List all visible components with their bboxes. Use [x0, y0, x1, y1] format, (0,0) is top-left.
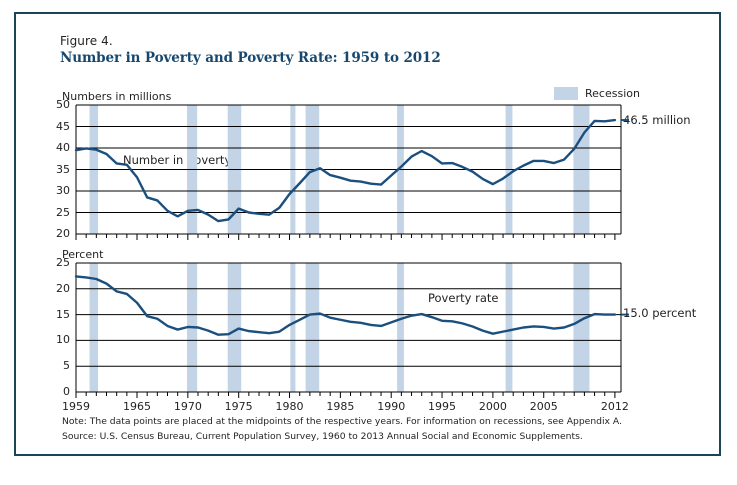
chart-note: Note: The data points are placed at the …	[62, 416, 622, 427]
chart-top-ytick: 30	[44, 184, 70, 197]
chart-bottom-ytick: 0	[44, 385, 70, 398]
chart-bottom-ytick: 5	[44, 359, 70, 372]
chart-xtick: 1970	[168, 400, 208, 413]
chart-xtick: 1990	[371, 400, 411, 413]
chart-xtick: 1959	[56, 400, 96, 413]
chart-xtick: 1995	[422, 400, 462, 413]
chart-bottom-ytick: 10	[44, 333, 70, 346]
chart-bottom-series-label: Poverty rate	[428, 291, 499, 305]
chart-source: Source: U.S. Census Bureau, Current Popu…	[62, 431, 583, 442]
chart-top-plot	[16, 14, 737, 485]
chart-top-ytick: 45	[44, 120, 70, 133]
chart-xtick: 1975	[219, 400, 259, 413]
chart-top-ytick: 35	[44, 163, 70, 176]
chart-xtick: 1985	[320, 400, 360, 413]
chart-xtick: 1965	[117, 400, 157, 413]
figure-frame: Figure 4. Number in Poverty and Poverty …	[14, 12, 721, 456]
chart-bottom-ytick: 25	[44, 256, 70, 269]
chart-bottom-ytick: 20	[44, 282, 70, 295]
chart-xtick: 2012	[595, 400, 635, 413]
chart-top-ytick: 40	[44, 141, 70, 154]
chart-bottom-end-label: 15.0 percent	[623, 306, 696, 320]
chart-bottom-ytick: 15	[44, 308, 70, 321]
chart-xtick: 2000	[473, 400, 513, 413]
chart-top-ytick: 20	[44, 227, 70, 240]
chart-xtick: 1980	[270, 400, 310, 413]
chart-xtick: 2005	[524, 400, 564, 413]
chart-top-ytick: 50	[44, 98, 70, 111]
chart-top-ytick: 25	[44, 206, 70, 219]
